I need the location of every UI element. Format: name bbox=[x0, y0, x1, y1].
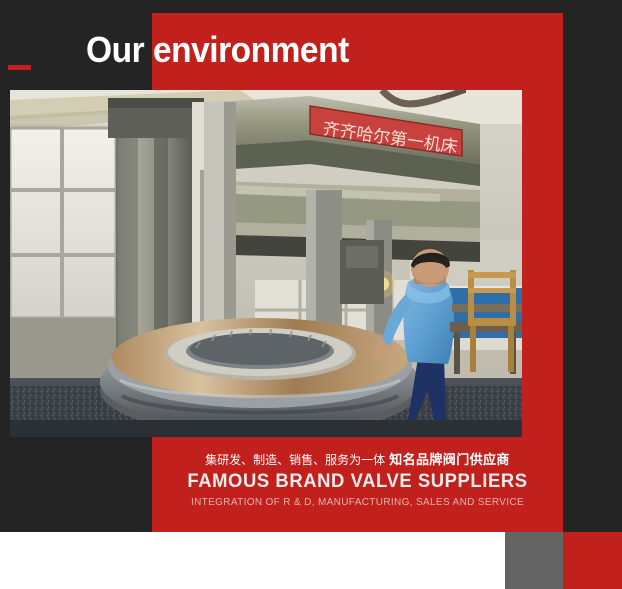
caption-chinese-light: 集研发、制造、销售、服务为一体 bbox=[205, 453, 385, 467]
page-root: Our environment bbox=[0, 0, 622, 589]
caption-english-main: FAMOUS BRAND VALVE SUPPLIERS bbox=[158, 470, 557, 494]
right-dark-strip bbox=[563, 0, 622, 532]
caption-chinese-bold: 知名品牌阀门供应商 bbox=[389, 452, 510, 467]
caption-chinese: 集研发、制造、销售、服务为一体 知名品牌阀门供应商 bbox=[152, 450, 563, 470]
bottom-gray-block bbox=[505, 532, 563, 589]
factory-photo: 齐齐哈尔第一机床 bbox=[10, 90, 522, 437]
bottom-red-block bbox=[563, 532, 622, 589]
page-title: Our environment bbox=[86, 28, 349, 72]
caption-block: 集研发、制造、销售、服务为一体 知名品牌阀门供应商 FAMOUS BRAND V… bbox=[152, 450, 563, 512]
caption-english-sub: INTEGRATION OF R & D, MANUFACTURING, SAL… bbox=[152, 494, 563, 512]
red-dash-accent-icon bbox=[8, 65, 31, 70]
